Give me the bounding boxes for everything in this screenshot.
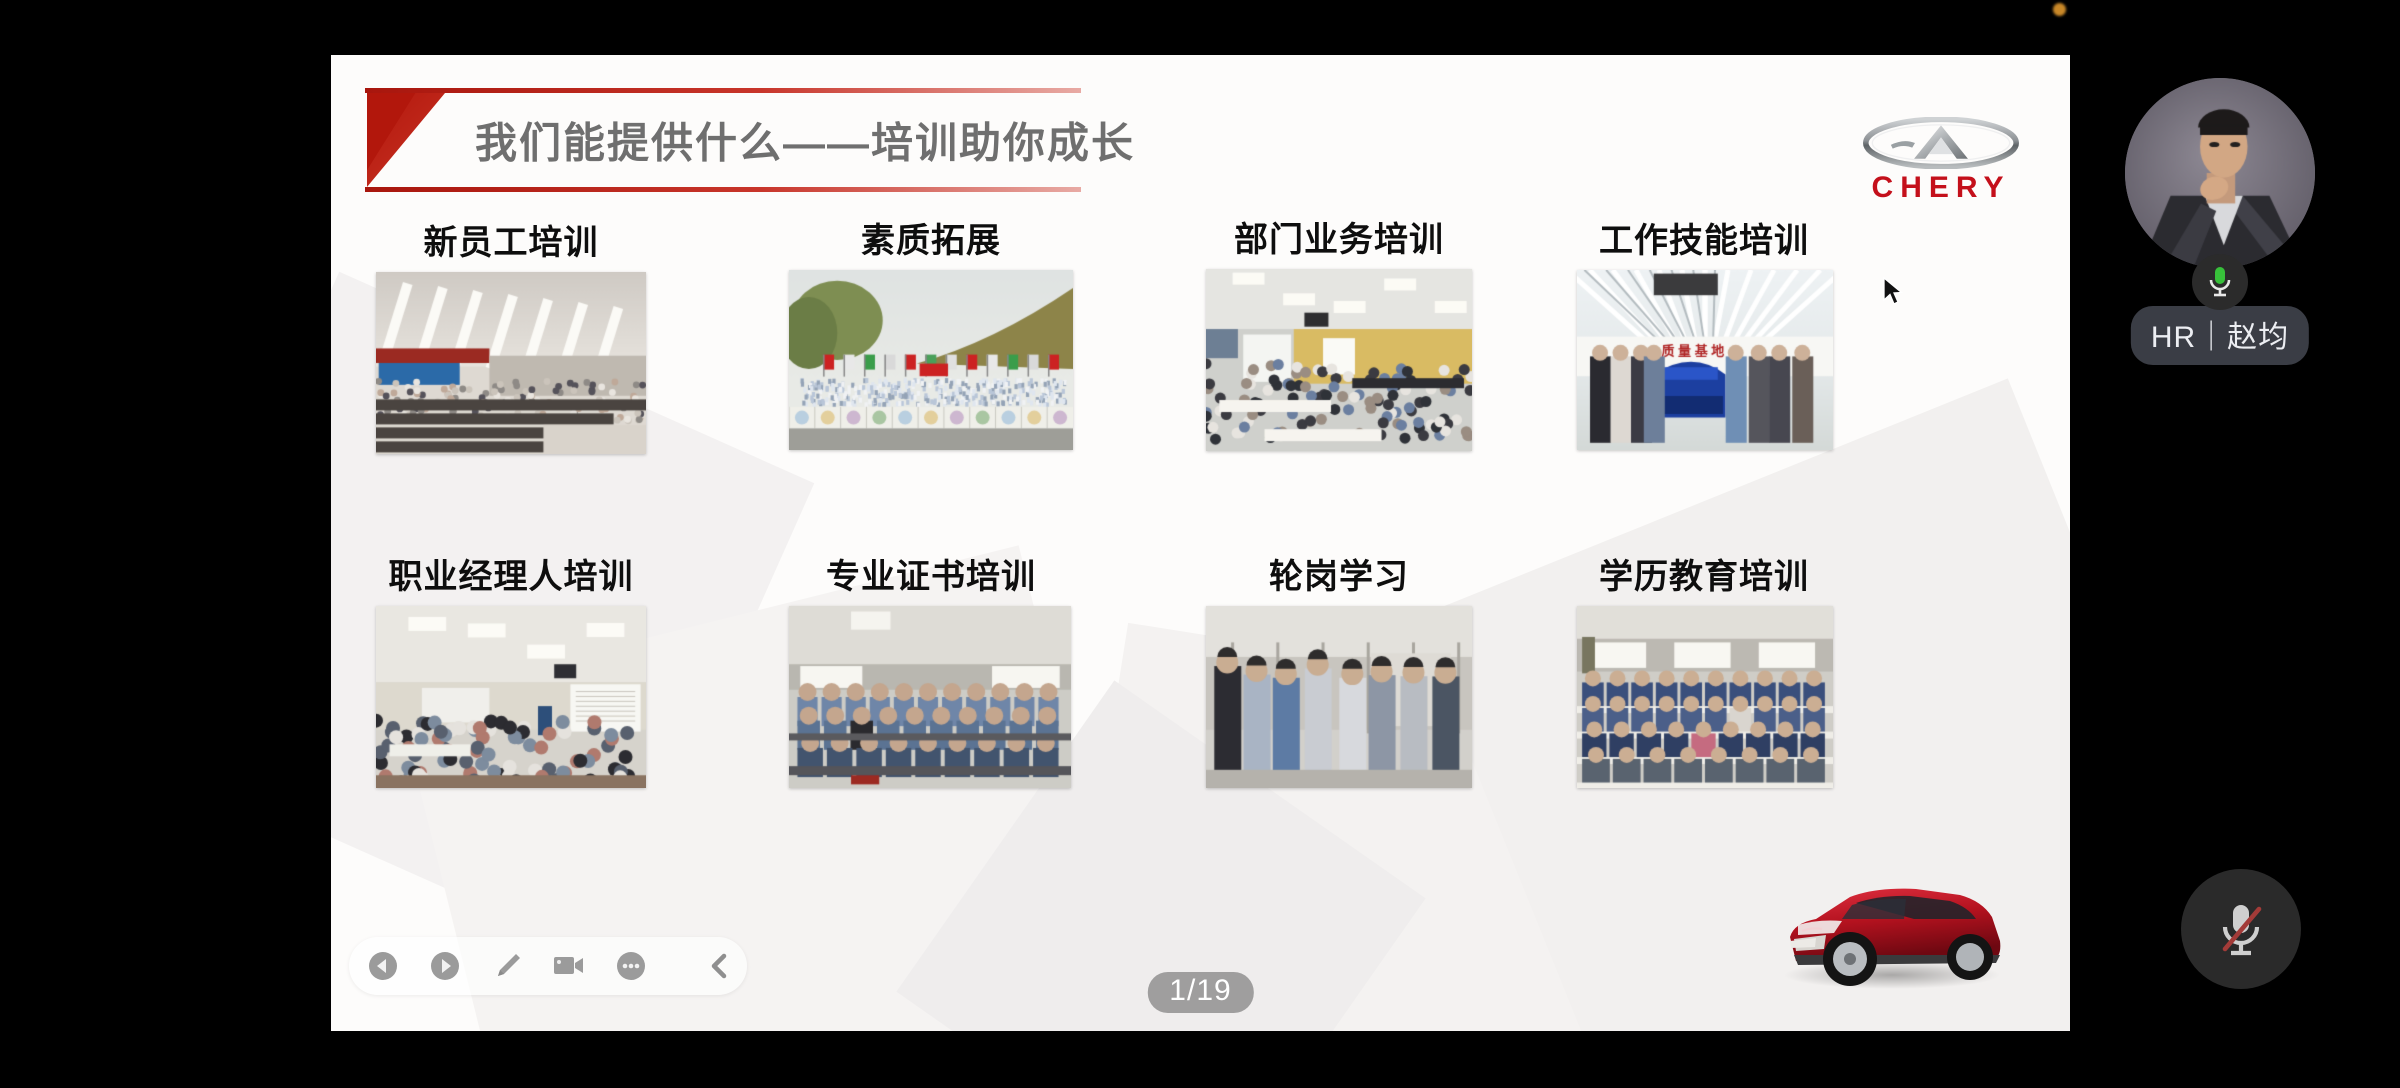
grid-cell[interactable]: 专业证书培训 bbox=[781, 549, 1081, 788]
slide-title: 我们能提供什么——培训助你成长 bbox=[475, 110, 1135, 171]
grid-cell[interactable]: 部门业务培训 bbox=[1189, 212, 1489, 451]
cell-label: 学历教育培训 bbox=[1489, 549, 1919, 598]
grid-cell[interactable]: 新员工培训 bbox=[361, 215, 661, 454]
slide-title-bar: 我们能提供什么——培训助你成长 bbox=[365, 88, 1081, 192]
avatar bbox=[2125, 78, 2315, 268]
grid-cell[interactable]: 工作技能培训 bbox=[1489, 213, 1919, 450]
cell-photo[interactable] bbox=[1206, 606, 1472, 788]
circle-left-arrow-icon bbox=[368, 951, 398, 981]
mic-status-badge bbox=[2192, 254, 2248, 310]
chery-oval-emblem-icon bbox=[1857, 117, 2025, 169]
grid-cell[interactable]: 学历教育培训 bbox=[1489, 549, 1919, 788]
training-photo-grid: 新员工培训 素质拓展 部门业务培训 bbox=[331, 215, 2070, 865]
grid-row-1: 新员工培训 素质拓展 部门业务培训 bbox=[331, 215, 2070, 555]
cell-photo[interactable] bbox=[376, 606, 646, 788]
cell-photo[interactable] bbox=[789, 270, 1073, 450]
screen-share-view: 我们能提供什么——培训助你成长 bbox=[0, 0, 2400, 1088]
cell-label: 职业经理人培训 bbox=[361, 549, 661, 598]
slide-toolbar[interactable] bbox=[349, 937, 747, 995]
grid-cell[interactable]: 轮岗学习 bbox=[1189, 549, 1489, 788]
cell-photo[interactable] bbox=[789, 606, 1071, 788]
self-mute-button[interactable] bbox=[2181, 869, 2301, 989]
title-rule-bottom bbox=[365, 187, 1081, 192]
next-slide-button[interactable] bbox=[425, 946, 465, 986]
cell-photo[interactable] bbox=[376, 272, 646, 454]
cell-label: 素质拓展 bbox=[781, 213, 1081, 262]
cell-label: 轮岗学习 bbox=[1189, 549, 1489, 598]
pen-icon bbox=[491, 950, 523, 982]
chery-logo: CHERY bbox=[1850, 117, 2032, 205]
recording-indicator-dot bbox=[2053, 3, 2066, 16]
video-camera-icon bbox=[553, 953, 585, 979]
participant-name: HR｜赵均 bbox=[2131, 306, 2309, 365]
collapse-toolbar-button[interactable] bbox=[699, 946, 739, 986]
title-rule-top bbox=[365, 88, 1081, 93]
video-button[interactable] bbox=[549, 946, 589, 986]
cell-photo[interactable] bbox=[1577, 270, 1833, 450]
grid-cell[interactable]: 职业经理人培训 bbox=[361, 549, 661, 788]
cell-label: 工作技能培训 bbox=[1489, 213, 1919, 262]
previous-slide-button[interactable] bbox=[363, 946, 403, 986]
participant-tile[interactable]: HR｜赵均 bbox=[2125, 78, 2315, 348]
presentation-slide[interactable]: 我们能提供什么——培训助你成长 bbox=[331, 55, 2070, 1031]
red-suv-illustration bbox=[1764, 875, 2014, 995]
page-indicator: 1/19 bbox=[1147, 972, 1253, 1013]
cell-label: 专业证书培训 bbox=[781, 549, 1081, 598]
cell-label: 新员工培训 bbox=[361, 215, 661, 264]
cell-photo[interactable] bbox=[1206, 269, 1472, 451]
grid-cell[interactable]: 素质拓展 bbox=[781, 213, 1081, 450]
chevron-left-icon bbox=[706, 951, 732, 981]
annotate-button[interactable] bbox=[487, 946, 527, 986]
ellipsis-icon bbox=[616, 951, 646, 981]
grid-row-2: 职业经理人培训 专业证书培训 轮岗学习 bbox=[331, 555, 2070, 865]
chery-wordmark: CHERY bbox=[1872, 171, 2011, 205]
microphone-active-icon bbox=[2205, 265, 2235, 299]
more-options-button[interactable] bbox=[611, 946, 651, 986]
cell-photo[interactable] bbox=[1577, 606, 1833, 788]
circle-right-arrow-icon bbox=[430, 951, 460, 981]
cell-label: 部门业务培训 bbox=[1189, 212, 1489, 261]
microphone-muted-icon bbox=[2212, 897, 2270, 961]
